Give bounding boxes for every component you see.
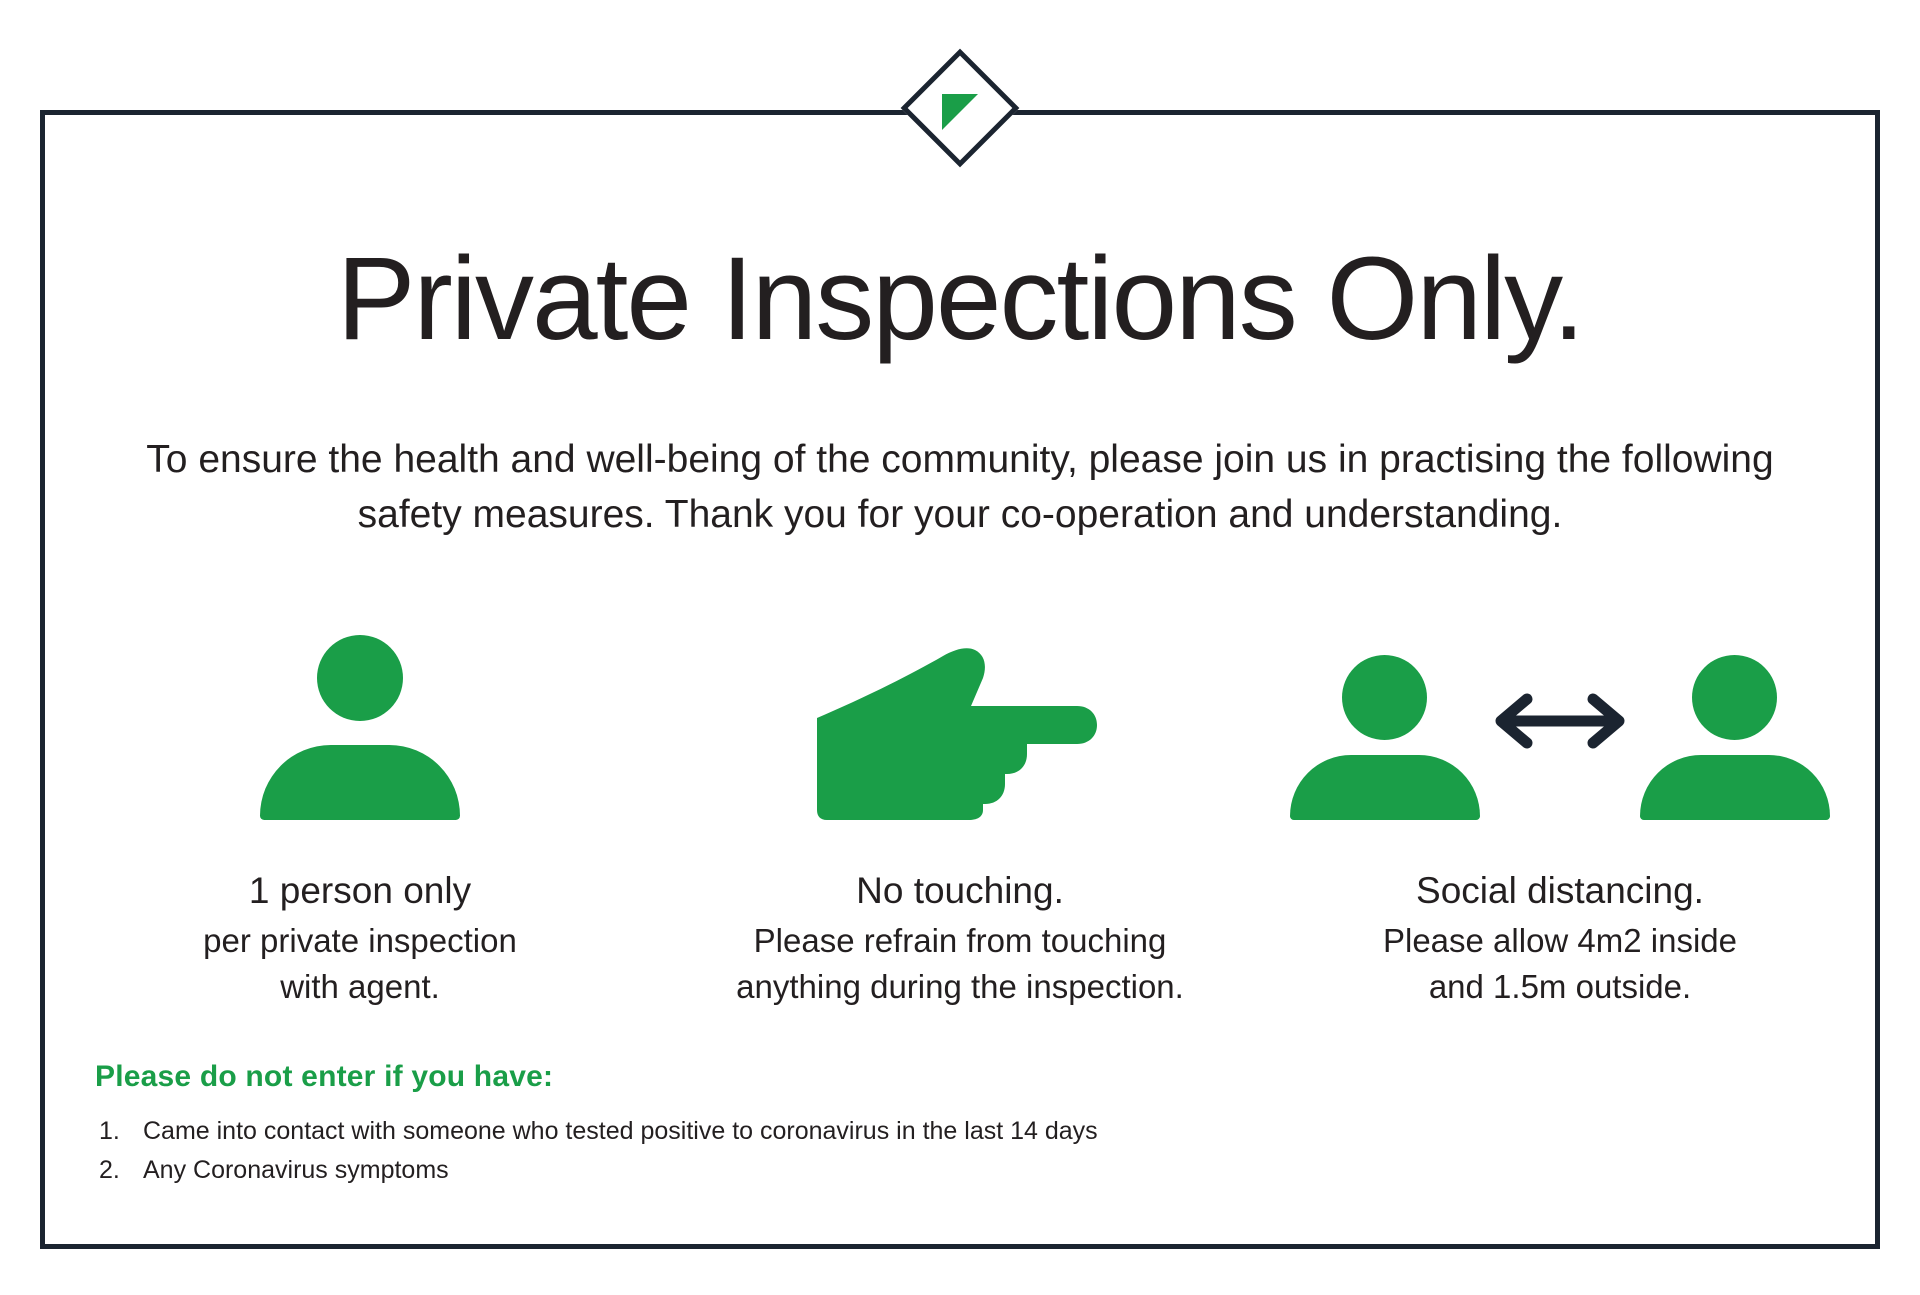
measure-lead: Social distancing. [1383, 865, 1737, 918]
list-item-text: Came into contact with someone who teste… [143, 1117, 1098, 1145]
measure-line: with agent. [203, 964, 517, 1011]
icon-stage [815, 600, 1105, 820]
person-left-icon [1290, 655, 1480, 820]
measure-line: Please allow 4m2 inside [1383, 918, 1737, 965]
safety-poster: Private Inspections Only. To ensure the … [0, 0, 1920, 1295]
list-item-number: 2. [99, 1151, 133, 1190]
measure-lead: 1 person only [203, 865, 517, 918]
icon-stage [260, 600, 460, 820]
measure-line: anything during the inspection. [736, 964, 1184, 1011]
distance-arrow-icon [1480, 655, 1640, 820]
measure-line: and 1.5m outside. [1383, 964, 1737, 1011]
social-distance-icon [1290, 655, 1830, 820]
list-item: 1. Came into contact with someone who te… [95, 1112, 1695, 1151]
person-head-shape [317, 635, 403, 721]
list-item-text: Any Coronavirus symptoms [143, 1156, 449, 1184]
person-head-shape [1692, 655, 1777, 740]
measure-lead: No touching. [736, 865, 1184, 918]
measure-caption: 1 person only per private inspection wit… [203, 865, 517, 1011]
measure-caption: Social distancing. Please allow 4m2 insi… [1383, 865, 1737, 1011]
list-item-number: 1. [99, 1112, 133, 1151]
intro-paragraph: To ensure the health and well-being of t… [110, 432, 1810, 543]
pointing-hand-icon [815, 630, 1105, 820]
list-item: 2. Any Coronavirus symptoms [95, 1151, 1695, 1190]
measure-line: Please refrain from touching [736, 918, 1184, 965]
do-not-enter-heading: Please do not enter if you have: [95, 1060, 1695, 1094]
measure-social-distancing: Social distancing. Please allow 4m2 insi… [1260, 600, 1860, 1011]
person-body-shape [260, 745, 460, 820]
person-body-shape [1290, 755, 1480, 820]
green-triangle-mark-icon [942, 94, 978, 130]
page-title: Private Inspections Only. [0, 240, 1920, 358]
icon-stage [1290, 600, 1830, 820]
do-not-enter-section: Please do not enter if you have: 1. Came… [95, 1060, 1695, 1190]
person-body-shape [1640, 755, 1830, 820]
person-right-icon [1640, 655, 1830, 820]
brand-logo [900, 48, 1020, 168]
measure-caption: No touching. Please refrain from touchin… [736, 865, 1184, 1011]
measures-row: 1 person only per private inspection wit… [60, 600, 1860, 1011]
single-person-icon [260, 635, 460, 820]
person-head-shape [1342, 655, 1427, 740]
measure-no-touching: No touching. Please refrain from touchin… [660, 600, 1260, 1011]
measure-line: per private inspection [203, 918, 517, 965]
do-not-enter-list: 1. Came into contact with someone who te… [95, 1112, 1695, 1190]
measure-single-person: 1 person only per private inspection wit… [60, 600, 660, 1011]
